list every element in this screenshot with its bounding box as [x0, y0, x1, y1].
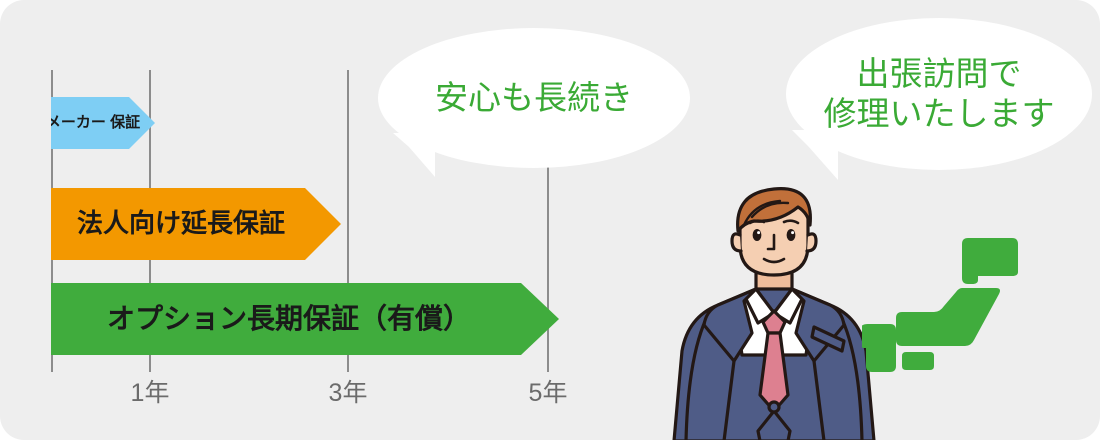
tick-label-3year: 3年	[329, 373, 368, 409]
bar-maker-warranty-label: メーカー 保証	[46, 115, 140, 132]
tick-label-5year: 5年	[529, 373, 568, 409]
speech-bubble-one: 安心も長続き	[378, 28, 690, 168]
bar-corporate-extended-warranty-label: 法人向け延長保証	[77, 209, 285, 238]
bar-option-long-term-warranty-label: オプション長期保証（有償）	[107, 303, 471, 334]
bar-corporate-extended-warranty: 法人向け延長保証	[51, 188, 341, 260]
bar-option-long-term-warranty: オプション長期保証（有償）	[51, 283, 559, 355]
infographic-canvas: 1年 3年 5年 メーカー 保証 法人向け延長保証 オプション長期保証（有償） …	[0, 0, 1100, 440]
tick-label-1year: 1年	[131, 373, 170, 409]
speech-bubble-one-text: 安心も長続き	[435, 78, 633, 118]
speech-bubble-two: 出張訪問で 修理いたします	[786, 18, 1092, 170]
bar-maker-warranty: メーカー 保証	[51, 97, 155, 149]
japan-map-illustration	[862, 236, 1022, 386]
speech-bubble-two-text: 出張訪問で 修理いたします	[824, 54, 1055, 135]
